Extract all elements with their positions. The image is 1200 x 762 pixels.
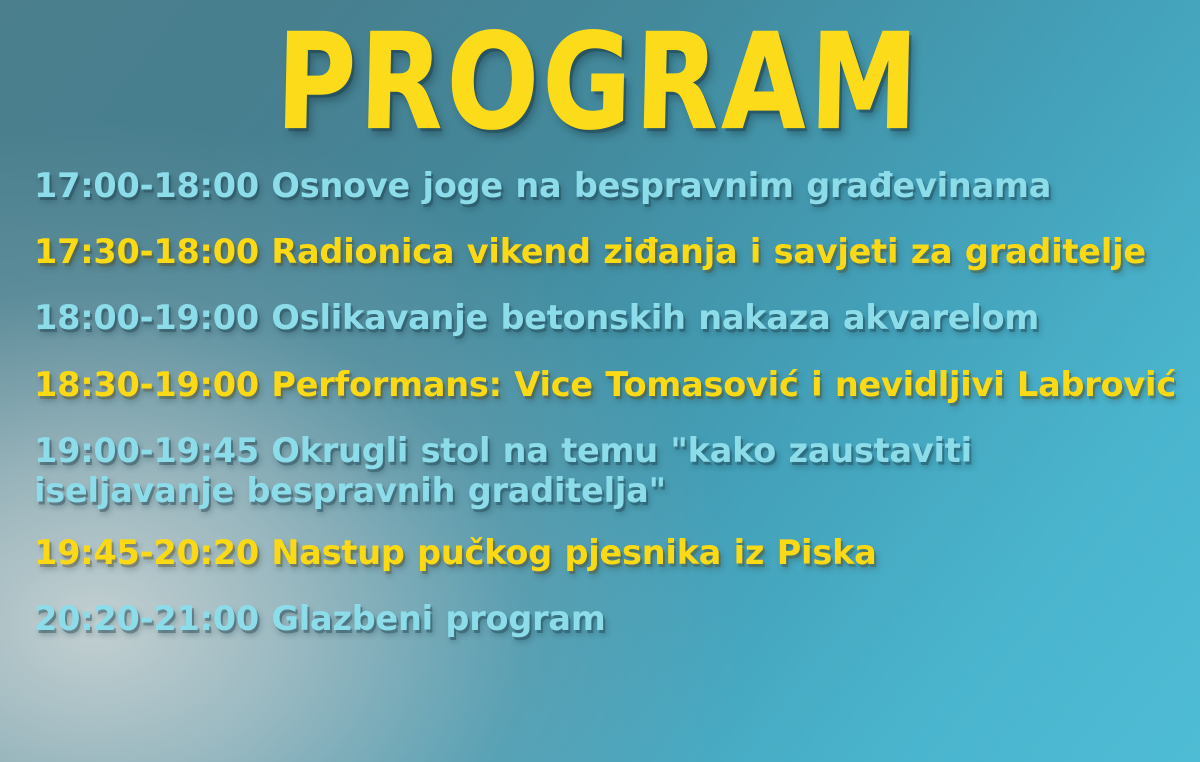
program-item: 19:45-20:20 Nastup pučkog pjesnika iz Pi…: [34, 533, 1182, 573]
program-item: 18:30-19:00 Performans: Vice Tomasović i…: [34, 365, 1182, 405]
page-title: PROGRAM: [275, 14, 923, 152]
program-poster: PROGRAM 17:00-18:00 Osnove joge na bespr…: [0, 0, 1200, 762]
title-area: PROGRAM: [0, 14, 1200, 144]
program-item: 20:20-21:00 Glazbeni program: [34, 599, 1182, 639]
program-item: 18:00-19:00 Oslikavanje betonskih nakaza…: [34, 298, 1182, 338]
program-list: 17:00-18:00 Osnove joge na bespravnim gr…: [34, 166, 1182, 640]
program-item: 19:00-19:45 Okrugli stol na temu "kako z…: [34, 431, 1182, 511]
program-item: 17:00-18:00 Osnove joge na bespravnim gr…: [34, 166, 1182, 206]
program-item: 17:30-18:00 Radionica vikend ziđanja i s…: [34, 232, 1182, 272]
